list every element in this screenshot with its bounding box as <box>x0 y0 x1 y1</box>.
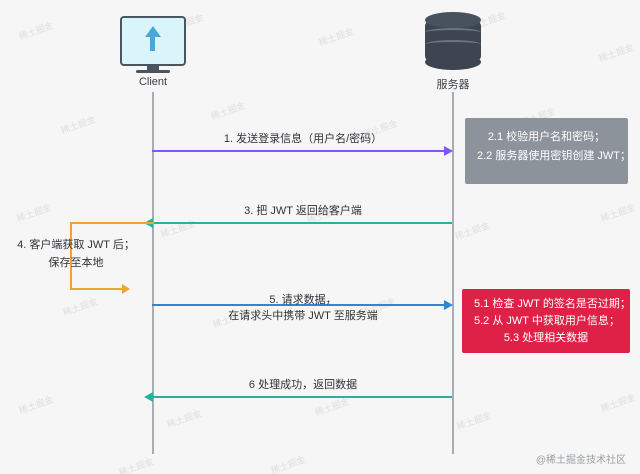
message-1-arrowhead <box>444 146 453 156</box>
note-jwt-check-line-2: 5.2 从 JWT 中获取用户信息； <box>474 313 618 330</box>
monitor-upload-icon <box>120 16 186 66</box>
watermark: 稀土掘金 <box>17 392 55 417</box>
note-verify-line-1: 2.1 校验用户名和密码； <box>477 128 616 147</box>
diagram-canvas: 稀土掘金 稀土掘金 稀土掘金 稀土掘金 稀土掘金 稀土掘金 稀土掘金 稀土掘金 … <box>0 0 640 474</box>
watermark: 稀土掘金 <box>455 408 493 433</box>
watermark: 稀土掘金 <box>209 98 247 123</box>
message-6-line <box>152 396 452 398</box>
database-bottom <box>425 54 481 70</box>
watermark: 稀土掘金 <box>269 452 307 474</box>
watermark: 稀土掘金 <box>599 200 637 225</box>
note-jwt-check-line-1: 5.1 检查 JWT 的签名是否过期； <box>474 296 618 313</box>
note-verify: 2.1 校验用户名和密码； 2.2 服务器使用密钥创建 JWT； <box>465 118 628 184</box>
watermark: 稀土掘金 <box>117 454 155 474</box>
self-message-4-bottom <box>70 288 124 290</box>
upload-arrow-icon <box>145 26 161 37</box>
credit-label: @稀土掘金技术社区 <box>536 451 626 466</box>
message-3-label: 3. 把 JWT 返回给客户端 <box>162 203 444 219</box>
note-jwt-check-line-3: 5.3 处理相关数据 <box>474 330 618 347</box>
watermark: 稀土掘金 <box>61 294 99 319</box>
self-message-4-label-line-2: 保存至本地 <box>6 254 146 272</box>
watermark: 稀土掘金 <box>59 112 97 137</box>
watermark: 稀土掘金 <box>597 40 635 65</box>
message-5-arrowhead <box>444 300 453 310</box>
note-jwt-check: 5.1 检查 JWT 的签名是否过期； 5.2 从 JWT 中获取用户信息； 5… <box>462 289 630 353</box>
watermark: 稀土掘金 <box>17 18 55 43</box>
watermark: 稀土掘金 <box>165 406 203 431</box>
message-5-label-line-1: 5. 请求数据， <box>162 292 444 308</box>
monitor-base <box>136 70 170 73</box>
message-5-label: 5. 请求数据， 在请求头中携带 JWT 至服务端 <box>162 292 444 324</box>
watermark: 稀土掘金 <box>159 216 197 241</box>
self-message-4-top <box>70 222 154 224</box>
watermark: 稀土掘金 <box>453 218 491 243</box>
self-message-4-label-line-1: 4. 客户端获取 JWT 后； <box>6 236 146 254</box>
message-1-line <box>152 150 444 152</box>
watermark: 稀土掘金 <box>317 24 355 49</box>
database-ring <box>425 40 481 49</box>
database-top <box>425 12 481 28</box>
message-5-label-line-2: 在请求头中携带 JWT 至服务端 <box>162 308 444 324</box>
message-6-label: 6 处理成功，返回数据 <box>162 377 444 393</box>
message-6-arrowhead <box>144 392 153 402</box>
actor-server-label: 服务器 <box>412 76 494 92</box>
message-1-label: 1. 发送登录信息（用户名/密码） <box>162 131 444 147</box>
watermark: 稀土掘金 <box>15 200 53 225</box>
database-ring <box>425 28 481 37</box>
upload-arrow-stem <box>150 37 155 51</box>
self-message-4-arrowhead <box>122 284 130 294</box>
note-verify-line-2: 2.2 服务器使用密钥创建 JWT； <box>477 147 616 166</box>
message-3-line <box>152 222 452 224</box>
watermark: 稀土掘金 <box>599 390 637 415</box>
self-message-4-label: 4. 客户端获取 JWT 后； 保存至本地 <box>6 236 146 272</box>
actor-client-label: Client <box>112 76 194 88</box>
